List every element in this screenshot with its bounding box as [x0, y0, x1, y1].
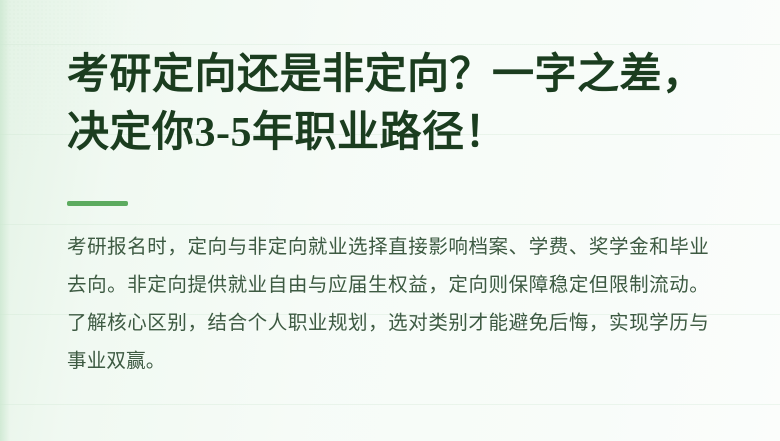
left-edge-stripe: [0, 0, 10, 441]
divider-rule: [67, 201, 128, 206]
poster-canvas: 考研定向还是非定向？一字之差， 决定你3-5年职业路径！ 考研报名时，定向与非定…: [0, 0, 780, 441]
content-column: 考研定向还是非定向？一字之差， 决定你3-5年职业路径！ 考研报名时，定向与非定…: [67, 0, 740, 441]
summary-paragraph: 考研报名时，定向与非定向就业选择直接影响档案、学费、奖学金和毕业去向。非定向提供…: [67, 228, 709, 380]
page-title: 考研定向还是非定向？一字之差， 决定你3-5年职业路径！: [67, 46, 740, 162]
